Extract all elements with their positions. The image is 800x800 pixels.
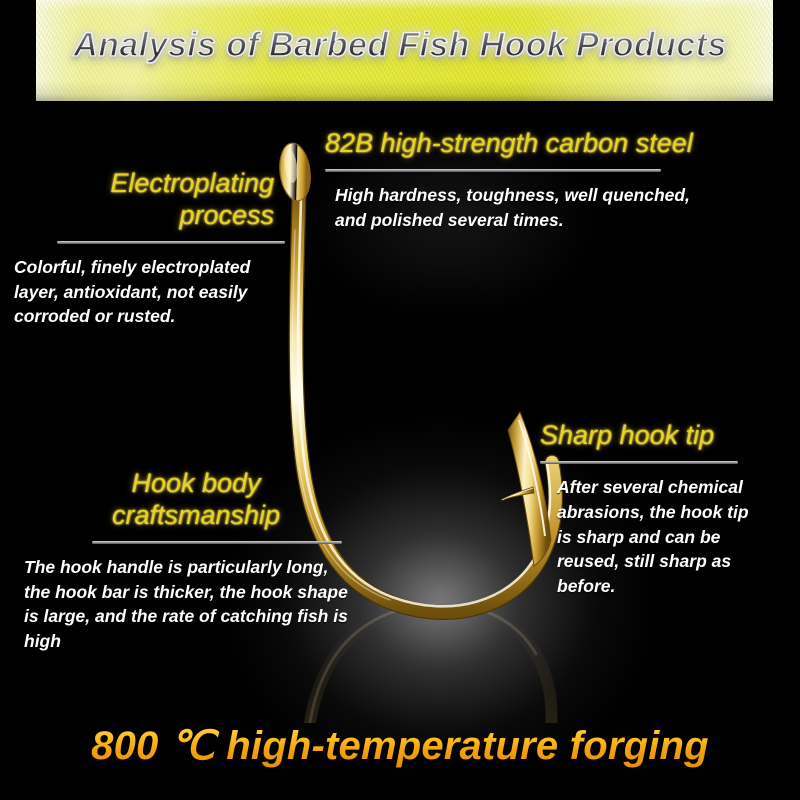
callout-hook-body-body: The hook handle is particularly long, th…	[20, 555, 350, 654]
callout-hook-body-heading: Hook body craftsmanship	[20, 468, 350, 532]
callout-sharp-hook-tip-body: After several chemical abrasions, the ho…	[540, 475, 792, 599]
page-title: Analysis of Barbed Fish Hook Products	[0, 26, 800, 65]
callout-sharp-hook-tip: Sharp hook tip After several chemical ab…	[540, 420, 792, 599]
callout-electroplating-body: Colorful, finely electroplated layer, an…	[10, 255, 288, 330]
footer-tagline: 800 ℃ high-temperature forging	[0, 723, 800, 769]
callout-electroplating: Electroplating process Colorful, finely …	[10, 168, 288, 329]
product-infographic: Analysis of Barbed Fish Hook Products	[0, 0, 800, 800]
callout-electroplating-divider	[57, 241, 285, 244]
callout-sharp-hook-tip-heading: Sharp hook tip	[540, 420, 792, 452]
callout-carbon-steel-body: High hardness, toughness, well quenched,…	[325, 183, 785, 233]
callout-electroplating-heading: Electroplating process	[10, 168, 288, 232]
callout-hook-body-divider	[92, 541, 342, 544]
callout-carbon-steel: 82B high-strength carbon steel High hard…	[325, 128, 785, 233]
fish-hook-graphic	[0, 0, 800, 800]
callout-carbon-steel-heading: 82B high-strength carbon steel	[325, 128, 785, 160]
callout-sharp-hook-tip-divider	[540, 461, 738, 464]
callout-carbon-steel-divider	[325, 169, 661, 172]
callout-hook-body-craftsmanship: Hook body craftsmanship The hook handle …	[20, 468, 350, 654]
hook-barb	[501, 487, 534, 500]
fish-hook-svg	[0, 0, 800, 800]
